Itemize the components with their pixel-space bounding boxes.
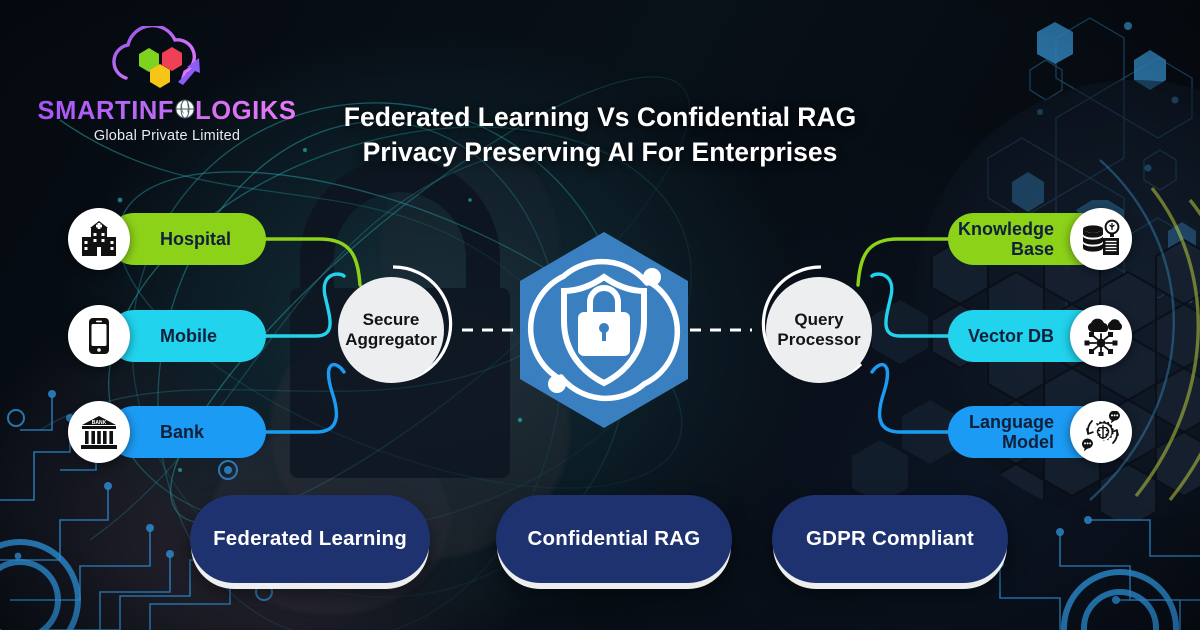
node-vector-db-label: Vector DB [968,326,1054,346]
node-hospital[interactable]: Hospital [108,213,266,265]
hub-query-processor-label: Query Processor [777,310,860,351]
tag-gdpr-compliant-label: GDPR Compliant [806,527,974,551]
svg-text:BANK: BANK [92,420,107,426]
page-title: Federated Learning Vs Confidential RAG P… [300,100,900,170]
company-logo: SMARTINF LOGIKS Global Private Limited [42,26,292,144]
node-knowledge-base-label: Knowledge Base [958,219,1054,259]
tag-confidential-rag[interactable]: Confidential RAG [496,495,732,583]
hub-secure-aggregator-label: Secure Aggregator [345,310,437,351]
honeycomb-sphere [915,80,1200,528]
node-mobile-label: Mobile [160,326,217,346]
logo-tagline: Global Private Limited [42,128,292,144]
brain-gear-chat-icon [1070,401,1132,463]
smartphone-icon [68,305,130,367]
tag-gdpr-compliant[interactable]: GDPR Compliant [772,495,1008,583]
logo-word-part1: SMARTINF [38,99,175,125]
infographic-canvas: SMARTINF LOGIKS Global Private Limited F… [0,0,1200,630]
tag-federated-learning[interactable]: Federated Learning [190,495,430,583]
title-line-1: Federated Learning Vs Confidential RAG [300,100,900,135]
cloud-hexagons-arrow-logo [42,26,292,94]
hub-secure-aggregator[interactable]: Secure Aggregator [338,277,444,383]
tag-federated-learning-label: Federated Learning [213,527,407,551]
node-mobile[interactable]: Mobile [108,310,266,362]
logo-word-part2: LOGIKS [195,99,296,125]
hub-query-processor[interactable]: Query Processor [766,277,872,383]
logo-wordmark: SMARTINF LOGIKS [42,99,292,125]
node-bank-label: Bank [160,422,204,442]
node-hospital-label: Hospital [160,229,231,249]
hospital-building-icon [68,208,130,270]
bank-columns-icon: BANK [68,401,130,463]
database-book-icon [1070,208,1132,270]
tag-confidential-rag-label: Confidential RAG [528,527,701,551]
globe-icon [175,99,195,125]
cloud-network-icon [1070,305,1132,367]
node-bank[interactable]: Bank [108,406,266,458]
node-language-model-label: Language Model [969,412,1054,452]
title-line-2: Privacy Preserving AI For Enterprises [300,135,900,170]
